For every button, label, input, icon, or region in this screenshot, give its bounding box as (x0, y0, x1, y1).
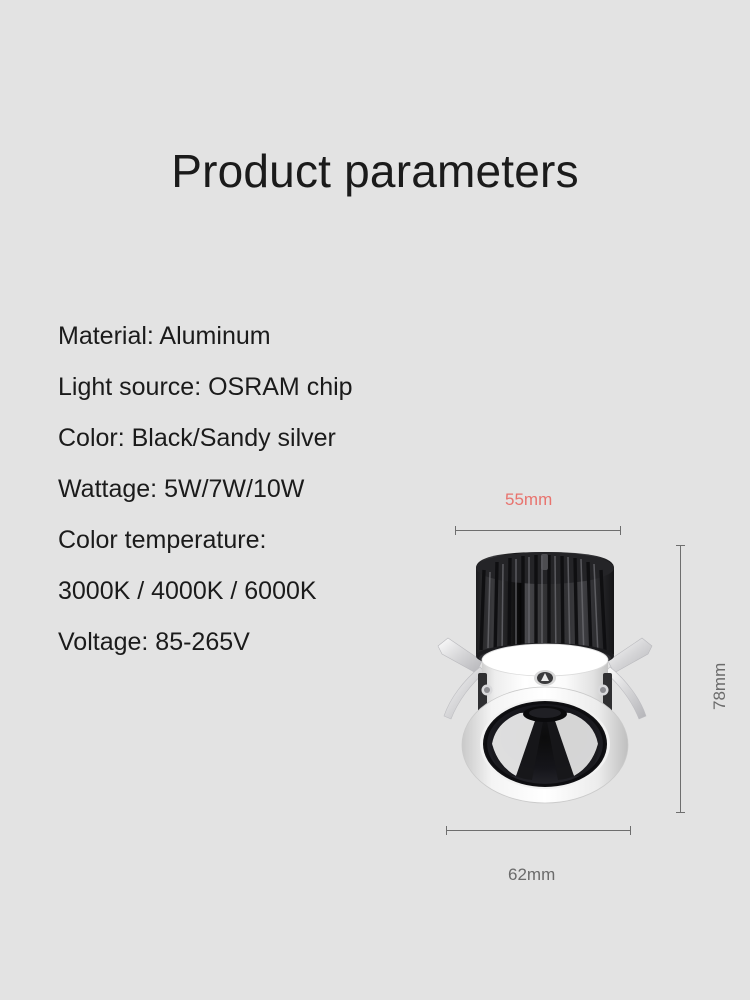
dimension-label-top-width: 55mm (505, 490, 552, 510)
spec-item-light-source: Light source: OSRAM chip (58, 362, 478, 413)
product-parameters-page: Product parameters Material: Aluminum Li… (0, 0, 750, 1000)
spec-item-color: Color: Black/Sandy silver (58, 413, 478, 464)
reflector-cone (483, 701, 607, 787)
dimension-label-height: 78mm (710, 663, 730, 710)
dimension-line-bottom-width (446, 830, 630, 831)
product-image-led-downlight (420, 530, 670, 830)
dimension-tick-height-top (676, 545, 685, 546)
page-title: Product parameters (0, 146, 750, 197)
product-dimension-figure: 55mm 78mm 62mm (400, 480, 740, 900)
dimension-tick-height-bottom (676, 812, 685, 813)
dimension-line-height (680, 545, 681, 812)
dimension-label-bottom-width: 62mm (508, 865, 555, 885)
screw-icon (534, 670, 556, 686)
spec-item-material: Material: Aluminum (58, 311, 478, 362)
